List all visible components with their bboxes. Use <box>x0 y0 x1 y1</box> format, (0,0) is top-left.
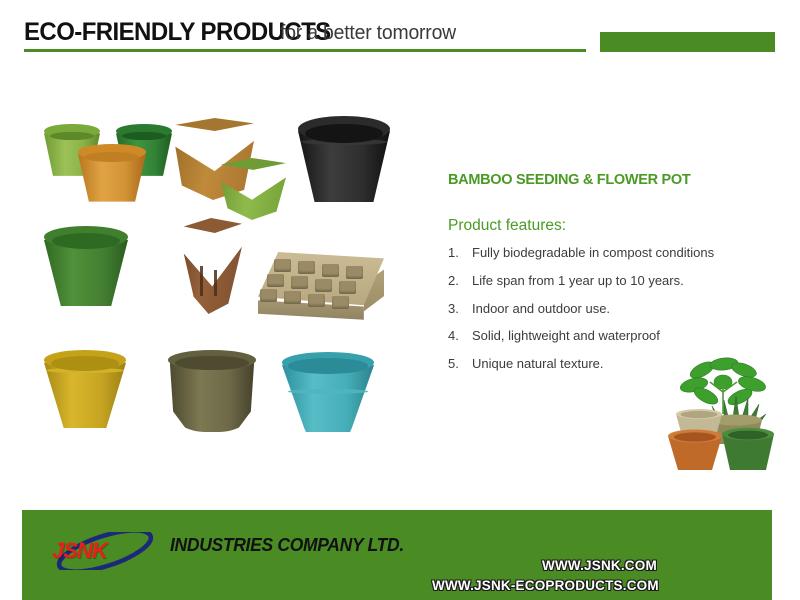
product-image-green-tapered-pot <box>44 226 128 306</box>
feature-text: Solid, lightweight and waterproof <box>472 328 660 343</box>
plant-illustration <box>640 352 790 492</box>
product-image-black-round-pot <box>298 116 390 202</box>
product-title: BAMBOO SEEDING & FLOWER POT <box>448 172 788 188</box>
feature-item: 4.Solid, lightweight and waterproof <box>448 329 788 343</box>
tray-cell <box>332 296 349 309</box>
pot-rim-inner <box>305 124 382 143</box>
pot-rim-inner <box>288 358 367 373</box>
feature-text: Indoor and outdoor use. <box>472 301 610 316</box>
tray-cell <box>274 259 291 272</box>
feature-item: 1.Fully biodegradable in compost conditi… <box>448 246 788 260</box>
page-footer: JSNK INDUSTRIES COMPANY LTD. WWW.JSNK.CO… <box>22 510 772 600</box>
pot-terracotta <box>668 430 722 471</box>
pot-drain-slot <box>214 270 217 296</box>
product-gallery <box>0 100 430 480</box>
pot-opening <box>172 118 254 136</box>
feature-number: 1. <box>448 246 459 260</box>
tray-cell <box>298 261 315 274</box>
feature-item: 2.Life span from 1 year up to 10 years. <box>448 274 788 288</box>
pot-green-front <box>722 428 774 470</box>
feature-number: 5. <box>448 357 459 371</box>
pot-orange <box>78 144 146 204</box>
pot-band <box>288 389 369 394</box>
product-image-teal-flower-pot <box>282 352 374 432</box>
tray-cell <box>260 289 277 302</box>
product-image-seedling-tray <box>258 252 384 324</box>
tray-cell <box>346 266 363 279</box>
feature-text: Unique natural texture. <box>472 356 604 371</box>
header-underline-rule <box>24 49 586 52</box>
pot-rim-inner <box>85 152 138 162</box>
pot-side <box>218 167 286 220</box>
feature-item: 3.Indoor and outdoor use. <box>448 302 788 316</box>
logo-wordmark: JSNK <box>52 538 107 564</box>
feature-text: Fully biodegradable in compost condition… <box>472 245 714 260</box>
pot-rim-inner <box>51 356 118 371</box>
pot-opening <box>218 158 286 174</box>
company-name: INDUSTRIES COMPANY LTD. <box>170 535 404 556</box>
pot-rim-inner <box>50 132 94 141</box>
tray-cell <box>291 276 308 289</box>
page-header: ECO-FRIENDLY PRODUCTS for a better tomor… <box>0 18 800 60</box>
tray-cell <box>315 279 332 292</box>
tray-cell <box>322 264 339 277</box>
tray-cell <box>284 291 301 304</box>
company-logo: JSNK <box>46 530 164 570</box>
header-accent-bar <box>600 32 775 52</box>
product-image-yellow-flower-pot <box>44 350 126 428</box>
page-subtitle: for a better tomorrow <box>280 22 456 45</box>
product-image-brown-tall-seedling-pot <box>180 218 242 314</box>
feature-number: 2. <box>448 274 459 288</box>
website-url-primary[interactable]: WWW.JSNK.COM <box>542 558 657 573</box>
tray-cell <box>339 281 356 294</box>
pot-opening <box>180 218 242 237</box>
feature-number: 4. <box>448 329 459 343</box>
product-image-square-pot-green <box>218 158 286 220</box>
pot-rim-inner <box>122 132 166 141</box>
features-heading: Product features: <box>448 217 788 235</box>
product-image-olive-round-pot <box>168 350 256 432</box>
tray-cell <box>267 274 284 287</box>
product-image-round-pots-trio <box>42 114 192 204</box>
pot-body <box>180 228 242 314</box>
pot-drain-slot <box>200 266 203 296</box>
feature-text: Life span from 1 year up to 10 years. <box>472 273 684 288</box>
tray-cell <box>308 294 325 307</box>
feature-number: 3. <box>448 302 459 316</box>
website-url-secondary[interactable]: WWW.JSNK-ECOPRODUCTS.COM <box>432 578 659 593</box>
potted-plants-arrangement-photo <box>640 352 790 492</box>
